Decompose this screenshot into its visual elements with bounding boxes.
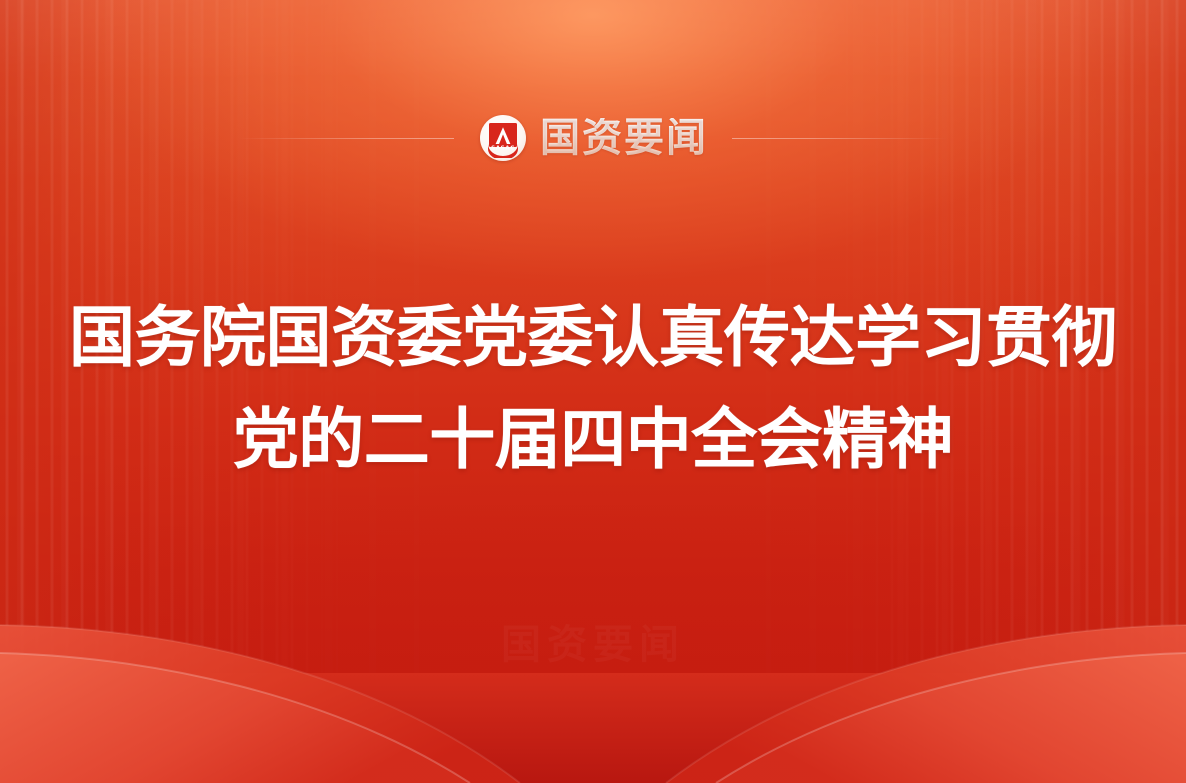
header-divider-right bbox=[732, 138, 947, 139]
poster-canvas: 国资要闻 bbox=[0, 0, 1186, 783]
brand-lockup: SASAC 国资要闻 bbox=[480, 115, 708, 161]
bottom-ribbon-decoration bbox=[0, 553, 1186, 783]
wordmark-text: 国资要闻 bbox=[540, 118, 708, 158]
headline-line-1: 国务院国资委党委认真传达学习贯彻 bbox=[0, 292, 1186, 384]
sasac-emblem-icon: SASAC bbox=[480, 115, 526, 161]
headline-block: 国务院国资委党委认真传达学习贯彻 党的二十届四中全会精神 bbox=[0, 292, 1186, 486]
svg-text:SASAC: SASAC bbox=[491, 145, 515, 151]
header-divider-left bbox=[239, 138, 454, 139]
poster-header: SASAC 国资要闻 bbox=[0, 108, 1186, 168]
headline-line-2: 党的二十届四中全会精神 bbox=[0, 394, 1186, 486]
